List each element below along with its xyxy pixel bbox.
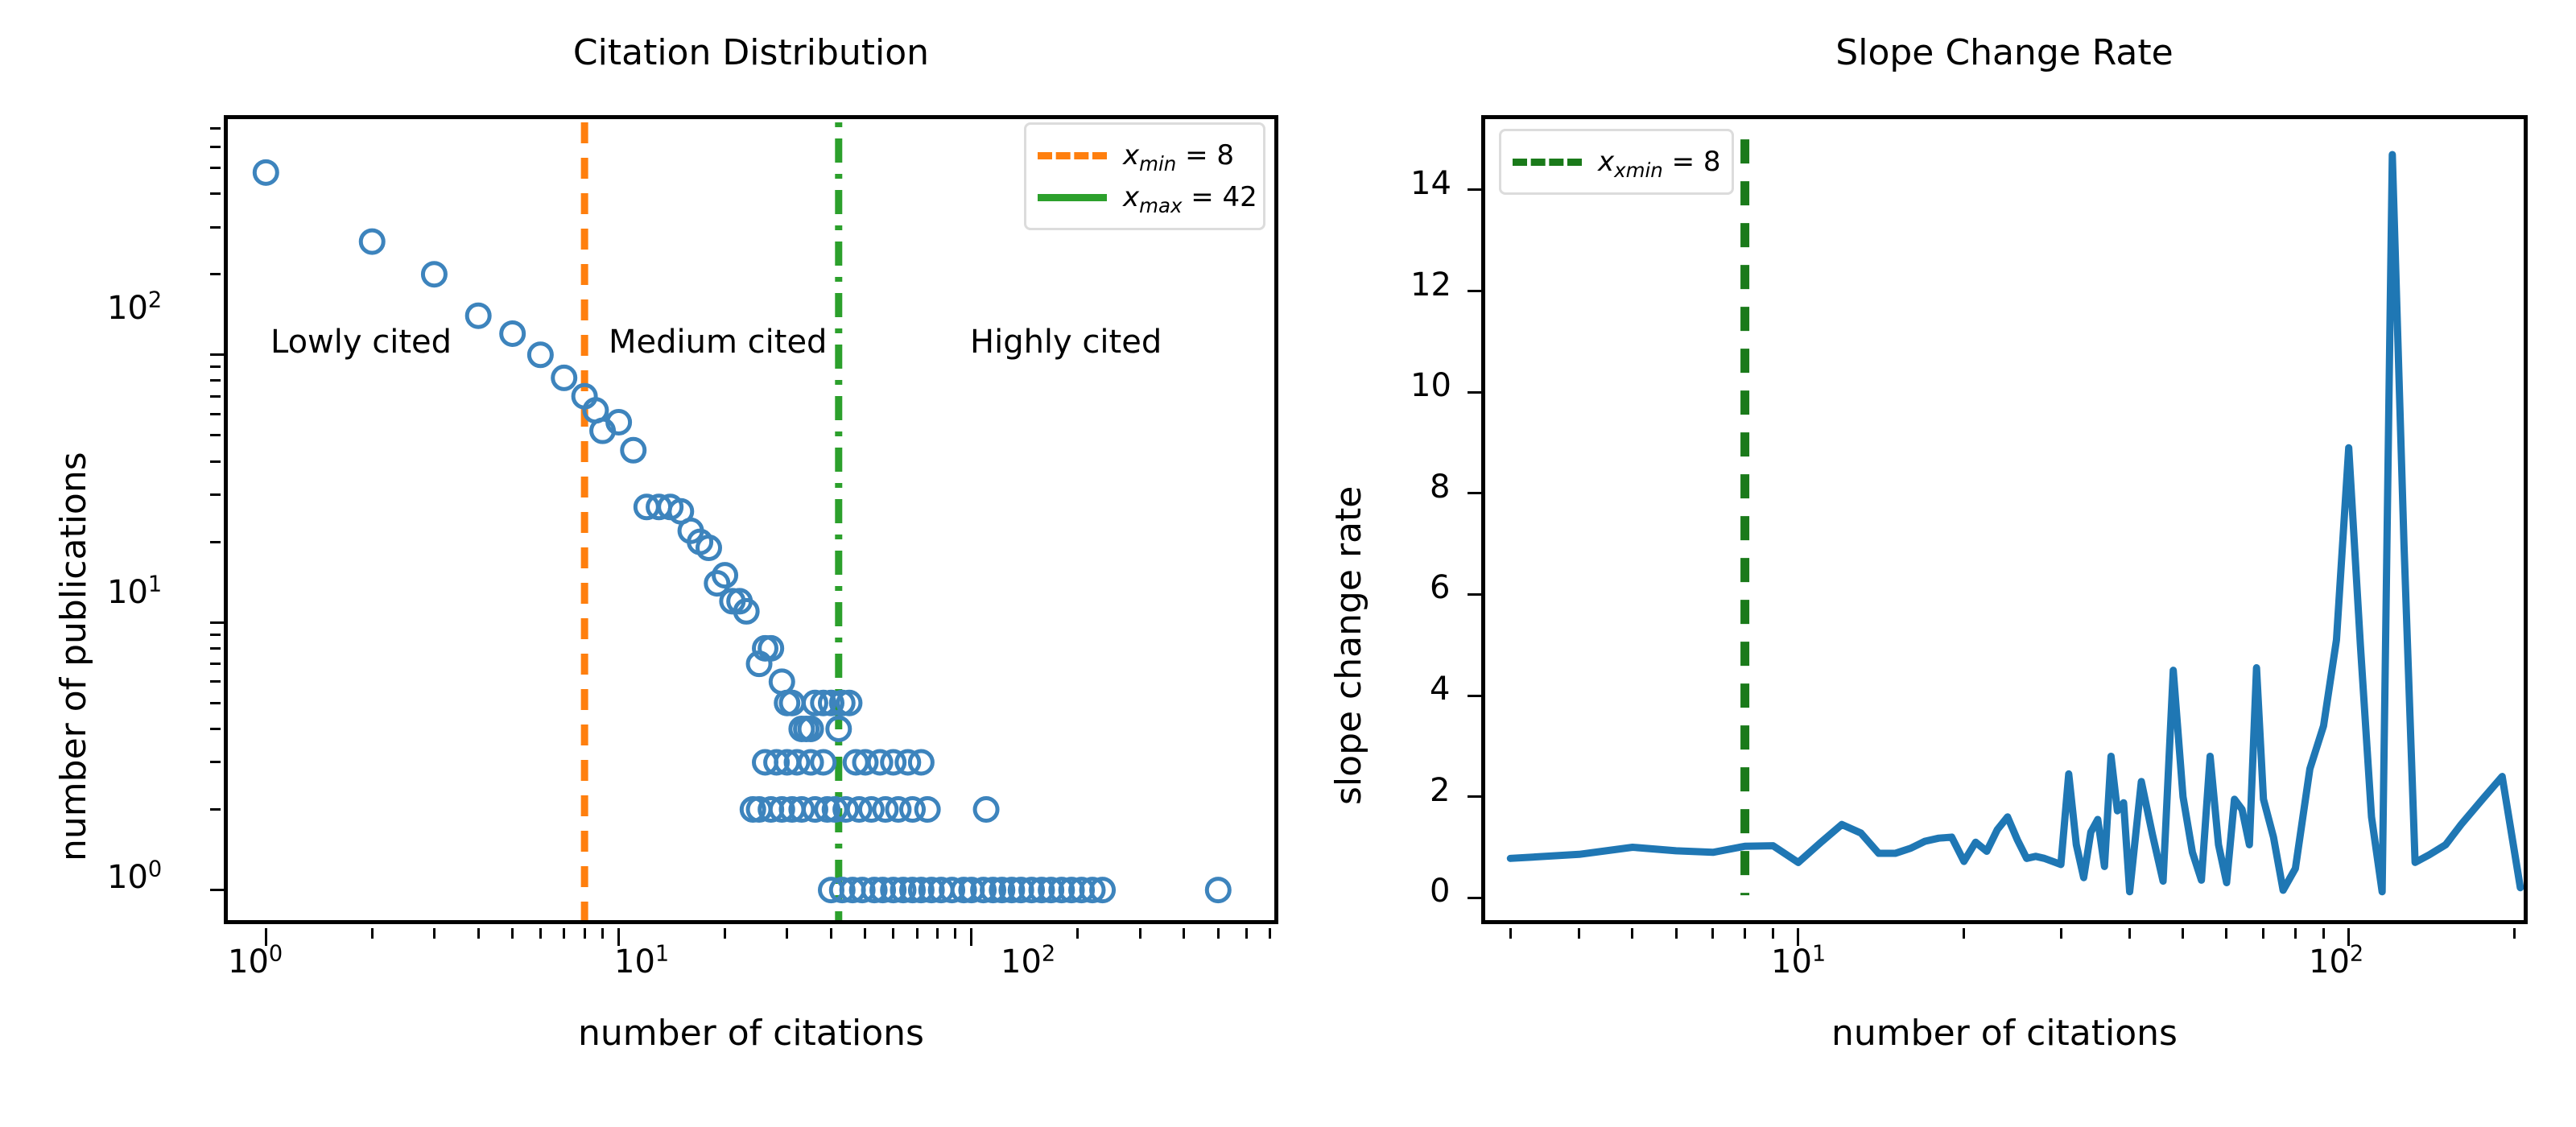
xtick-80 bbox=[936, 928, 939, 939]
right-xtick-3 bbox=[1509, 928, 1512, 939]
right-axes-frame bbox=[1481, 115, 2528, 924]
right-ytick-10 bbox=[1468, 391, 1485, 394]
right-ytick-12 bbox=[1468, 290, 1485, 292]
figure-canvas: Citation Distribution 102 101 100 100 10… bbox=[0, 0, 2576, 1127]
right-xtick-label-10: 101 bbox=[1771, 943, 1826, 980]
ytick-20 bbox=[210, 541, 221, 543]
xtick-3 bbox=[433, 928, 436, 939]
scatter-point bbox=[467, 304, 489, 327]
ytick-30 bbox=[210, 493, 221, 496]
right-ytick-label-2: 2 bbox=[1430, 772, 1450, 809]
ytick-2 bbox=[210, 808, 221, 811]
ytick-400 bbox=[210, 192, 221, 195]
right-xtick-50 bbox=[2182, 928, 2184, 939]
right-ytick-0 bbox=[1468, 897, 1485, 899]
right-xtick-20 bbox=[1963, 928, 1965, 939]
ytick-4 bbox=[210, 728, 221, 730]
ytick-1 bbox=[210, 889, 228, 891]
scatter-point bbox=[361, 230, 383, 253]
scatter-point bbox=[975, 799, 997, 821]
xtick-200 bbox=[1076, 928, 1079, 939]
right-ytick-6 bbox=[1468, 593, 1485, 596]
xtick-700 bbox=[1269, 928, 1271, 939]
right-xtick-9 bbox=[1772, 928, 1774, 939]
right-xlabel: number of citations bbox=[1481, 1013, 2528, 1054]
scatter-points bbox=[254, 161, 1229, 901]
scatter-point bbox=[916, 799, 939, 821]
ytick-9 bbox=[210, 634, 221, 636]
legend-label-xmax: xmax = 42 bbox=[1123, 181, 1257, 213]
xtick-90 bbox=[954, 928, 956, 939]
right-ylabel: slope change rate bbox=[1328, 486, 1369, 805]
right-ytick-label-0: 0 bbox=[1430, 873, 1450, 910]
scatter-point bbox=[502, 322, 524, 345]
left-panel-title: Citation Distribution bbox=[224, 32, 1278, 73]
scatter-point bbox=[910, 751, 932, 774]
ytick-5 bbox=[210, 702, 221, 704]
legend-item-xxmin: xxmin = 8 bbox=[1513, 141, 1717, 183]
right-ytick-label-8: 8 bbox=[1430, 469, 1450, 506]
right-xtick-7 bbox=[1711, 928, 1714, 939]
xtick-2 bbox=[371, 928, 374, 939]
region-label-medium-cited: Medium cited bbox=[609, 324, 827, 361]
legend-item-xmax: xmax = 42 bbox=[1038, 176, 1249, 218]
xtick-4 bbox=[477, 928, 480, 939]
ytick-70 bbox=[210, 395, 221, 398]
left-xtick-label-10: 101 bbox=[614, 943, 669, 980]
ytick-600 bbox=[210, 146, 221, 148]
legend-swatch-xmin-dashed bbox=[1038, 152, 1107, 159]
ytick-3 bbox=[210, 761, 221, 763]
right-ytick-8 bbox=[1468, 492, 1485, 494]
scatter-point bbox=[1207, 879, 1229, 902]
right-xtick-6 bbox=[1675, 928, 1678, 939]
right-ytick-label-14: 14 bbox=[1410, 165, 1451, 202]
right-xtick-40 bbox=[2128, 928, 2131, 939]
xtick-70 bbox=[916, 928, 919, 939]
ytick-40 bbox=[210, 460, 221, 463]
right-xtick-90 bbox=[2322, 928, 2325, 939]
right-ytick-14 bbox=[1468, 188, 1485, 191]
right-ytick-label-12: 12 bbox=[1410, 266, 1451, 303]
legend-label-xmin: xmin = 8 bbox=[1123, 139, 1234, 171]
right-ytick-label-4: 4 bbox=[1430, 671, 1450, 708]
xtick-5 bbox=[511, 928, 514, 939]
xtick-600 bbox=[1245, 928, 1248, 939]
right-xtick-200 bbox=[2513, 928, 2516, 939]
right-legend: xxmin = 8 bbox=[1499, 129, 1734, 195]
xtick-300 bbox=[1139, 928, 1141, 939]
xtick-7 bbox=[563, 928, 565, 939]
xtick-6 bbox=[539, 928, 542, 939]
legend-swatch-xmax-dashdot bbox=[1038, 194, 1107, 201]
ytick-50 bbox=[210, 434, 221, 436]
legend-label-xxmin: xxmin = 8 bbox=[1598, 146, 1721, 178]
slope-change-rate-line bbox=[1510, 155, 2520, 892]
left-xtick-label-1: 100 bbox=[228, 943, 283, 980]
scatter-point bbox=[254, 161, 277, 184]
right-panel-title: Slope Change Rate bbox=[1481, 32, 2528, 73]
right-xtick-label-100: 102 bbox=[2309, 943, 2363, 980]
right-data-layer bbox=[1485, 119, 2524, 920]
left-data-layer bbox=[228, 119, 1274, 920]
legend-swatch-xxmin-dashed bbox=[1513, 159, 1582, 166]
legend-item-xmin: xmin = 8 bbox=[1038, 134, 1249, 176]
region-label-lowly-cited: Lowly cited bbox=[270, 324, 452, 361]
right-xtick-5 bbox=[1631, 928, 1633, 939]
right-ytick-4 bbox=[1468, 695, 1485, 697]
right-plot-area bbox=[1485, 119, 2524, 920]
right-ytick-2 bbox=[1468, 795, 1485, 798]
right-xtick-8 bbox=[1744, 928, 1746, 939]
ytick-500 bbox=[210, 167, 221, 169]
left-axes-frame bbox=[224, 115, 1278, 924]
scatter-point bbox=[529, 344, 551, 366]
right-xtick-4 bbox=[1578, 928, 1580, 939]
right-xtick-80 bbox=[2294, 928, 2297, 939]
right-ytick-label-6: 6 bbox=[1430, 569, 1450, 606]
scatter-point bbox=[770, 671, 793, 693]
scatter-point bbox=[622, 439, 645, 461]
ytick-200 bbox=[210, 273, 221, 275]
xtick-9 bbox=[601, 928, 604, 939]
ytick-7 bbox=[210, 663, 221, 665]
xtick-400 bbox=[1183, 928, 1185, 939]
right-xtick-70 bbox=[2262, 928, 2264, 939]
xtick-60 bbox=[892, 928, 894, 939]
scatter-point bbox=[423, 263, 445, 286]
ytick-8 bbox=[210, 647, 221, 650]
left-xtick-label-100: 102 bbox=[1001, 943, 1055, 980]
region-label-highly-cited: Highly cited bbox=[970, 324, 1162, 361]
left-ytick-label-10: 101 bbox=[107, 574, 162, 611]
right-ytick-label-10: 10 bbox=[1410, 367, 1451, 404]
ytick-80 bbox=[210, 379, 221, 382]
ytick-90 bbox=[210, 365, 221, 368]
ytick-60 bbox=[210, 413, 221, 415]
right-xtick-60 bbox=[2225, 928, 2227, 939]
ytick-300 bbox=[210, 226, 221, 229]
xtick-40 bbox=[830, 928, 832, 939]
xtick-8 bbox=[584, 928, 586, 939]
scatter-point bbox=[553, 366, 576, 389]
right-xtick-30 bbox=[2060, 928, 2062, 939]
left-legend: xmin = 8 xmax = 42 bbox=[1024, 122, 1265, 230]
left-ytick-label-1: 100 bbox=[107, 859, 162, 896]
xtick-100 bbox=[970, 928, 972, 946]
ytick-10 bbox=[210, 621, 228, 624]
left-plot-area bbox=[228, 119, 1274, 920]
xtick-500 bbox=[1217, 928, 1220, 939]
ytick-6 bbox=[210, 680, 221, 683]
xtick-30 bbox=[786, 928, 788, 939]
xtick-50 bbox=[864, 928, 866, 939]
ytick-100 bbox=[210, 353, 228, 356]
ytick-700 bbox=[210, 127, 221, 130]
left-ylabel: number of publications bbox=[53, 452, 94, 861]
left-ytick-label-100: 102 bbox=[107, 290, 162, 327]
xtick-20 bbox=[724, 928, 726, 939]
left-xlabel: number of citations bbox=[224, 1013, 1278, 1054]
